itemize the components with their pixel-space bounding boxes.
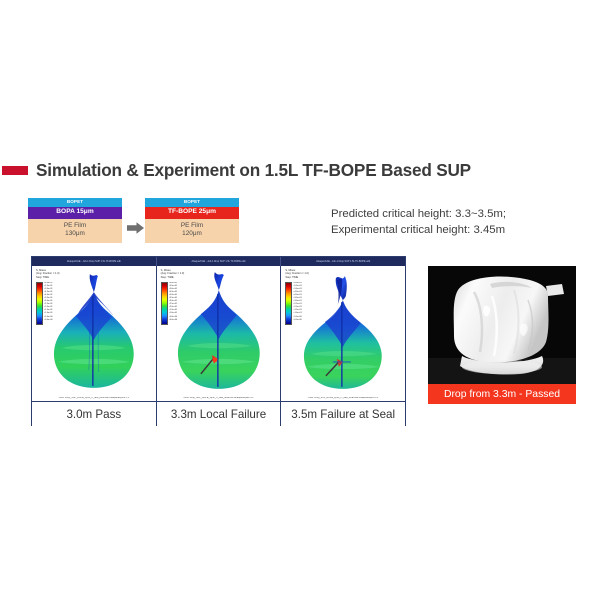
layer-bopa-before: BOPA 15μm bbox=[28, 207, 122, 219]
simulation-footer-3: ODB: Drop_SUP_BOPE_1p5L_H_falls_local.od… bbox=[281, 397, 405, 399]
simulation-window-title-1: Abaqus/CAE - Job-1 Drop SUP 1.5L TF-BOPE… bbox=[32, 257, 157, 266]
film-stack-after: BOPET TF-BOPE 25μm PE Film 120μm bbox=[145, 198, 239, 243]
simulation-panel-group: Abaqus/CAE - Job-1 Drop SUP 1.5L TF-BOPE… bbox=[31, 256, 406, 426]
layer-pe-before-thickness: 130μm bbox=[28, 231, 122, 237]
layer-pe-before: PE Film 130μm bbox=[28, 219, 122, 243]
experimental-critical-height: Experimental critical height: 3.45m bbox=[331, 222, 591, 238]
transition-arrow-icon bbox=[127, 222, 144, 234]
drop-test-result-badge: Drop from 3.3m - Passed bbox=[428, 384, 576, 404]
simulation-panels: S, Mises (Avg: Fraction = 1.0) Step: TIM… bbox=[32, 266, 405, 401]
pouch-contour-render-pass bbox=[32, 270, 156, 398]
simulation-panel-local-failure: S, Mises (Avg: Fraction = 1.0) Step: TIM… bbox=[157, 266, 282, 401]
layer-pe-after-thickness: 120μm bbox=[145, 231, 239, 237]
simulation-window-title-3: Abaqus/CAE - Job-1 Drop SUP 1.5L TF-BOPE… bbox=[281, 257, 405, 266]
layer-pe-after: PE Film 120μm bbox=[145, 219, 239, 243]
predicted-critical-height: Predicted critical height: 3.3~3.5m; bbox=[331, 206, 591, 222]
simulation-footer-1: ODB: Drop_SUP_BOPE_1p5L_H_falls_local.od… bbox=[32, 397, 156, 399]
simulation-window-title-2: Abaqus/CAE - Job-1 Drop SUP 1.5L TF-BOPE… bbox=[157, 257, 282, 266]
slide-canvas: Simulation & Experiment on 1.5L TF-BOPE … bbox=[0, 0, 600, 600]
drop-test-photo bbox=[428, 266, 576, 384]
film-stack-before: BOPET BOPA 15μm PE Film 130μm bbox=[28, 198, 122, 243]
layer-bopet-before: BOPET bbox=[28, 198, 122, 207]
simulation-footer-2: ODB: Drop_SUP_BOPE_1p5L_H_falls_local.od… bbox=[157, 397, 281, 399]
layer-pe-after-name: PE Film bbox=[181, 222, 203, 229]
pouch-contour-render-local-failure bbox=[157, 270, 281, 398]
simulation-panel-seal-failure: S, Mises (Avg: Fraction = 1.0) Step: TIM… bbox=[281, 266, 405, 401]
simulation-captions: 3.0m Pass 3.3m Local Failure 3.5m Failur… bbox=[32, 401, 405, 426]
simulation-caption-seal-failure: 3.5m Failure at Seal bbox=[281, 402, 405, 426]
simulation-caption-pass: 3.0m Pass bbox=[32, 402, 157, 426]
simulation-panel-pass: S, Mises (Avg: Fraction = 1.0) Step: TIM… bbox=[32, 266, 157, 401]
layer-bopet-after: BOPET bbox=[145, 198, 239, 207]
simulation-window-titlebar: Abaqus/CAE - Job-1 Drop SUP 1.5L TF-BOPE… bbox=[32, 257, 405, 266]
layer-pe-before-name: PE Film bbox=[64, 222, 86, 229]
film-structure-diagram: BOPET BOPA 15μm PE Film 130μm BOPET TF-B… bbox=[28, 198, 258, 246]
critical-height-notes: Predicted critical height: 3.3~3.5m; Exp… bbox=[331, 206, 591, 238]
drop-test-photo-block: Drop from 3.3m - Passed bbox=[428, 266, 576, 410]
pouch-contour-render-seal-failure bbox=[281, 270, 405, 398]
title-text: Simulation & Experiment on 1.5L TF-BOPE … bbox=[36, 160, 471, 181]
page-title: Simulation & Experiment on 1.5L TF-BOPE … bbox=[0, 157, 600, 183]
simulation-caption-local-failure: 3.3m Local Failure bbox=[157, 402, 282, 426]
title-accent-bar bbox=[2, 166, 28, 175]
layer-tfbope-after: TF-BOPE 25μm bbox=[145, 207, 239, 219]
